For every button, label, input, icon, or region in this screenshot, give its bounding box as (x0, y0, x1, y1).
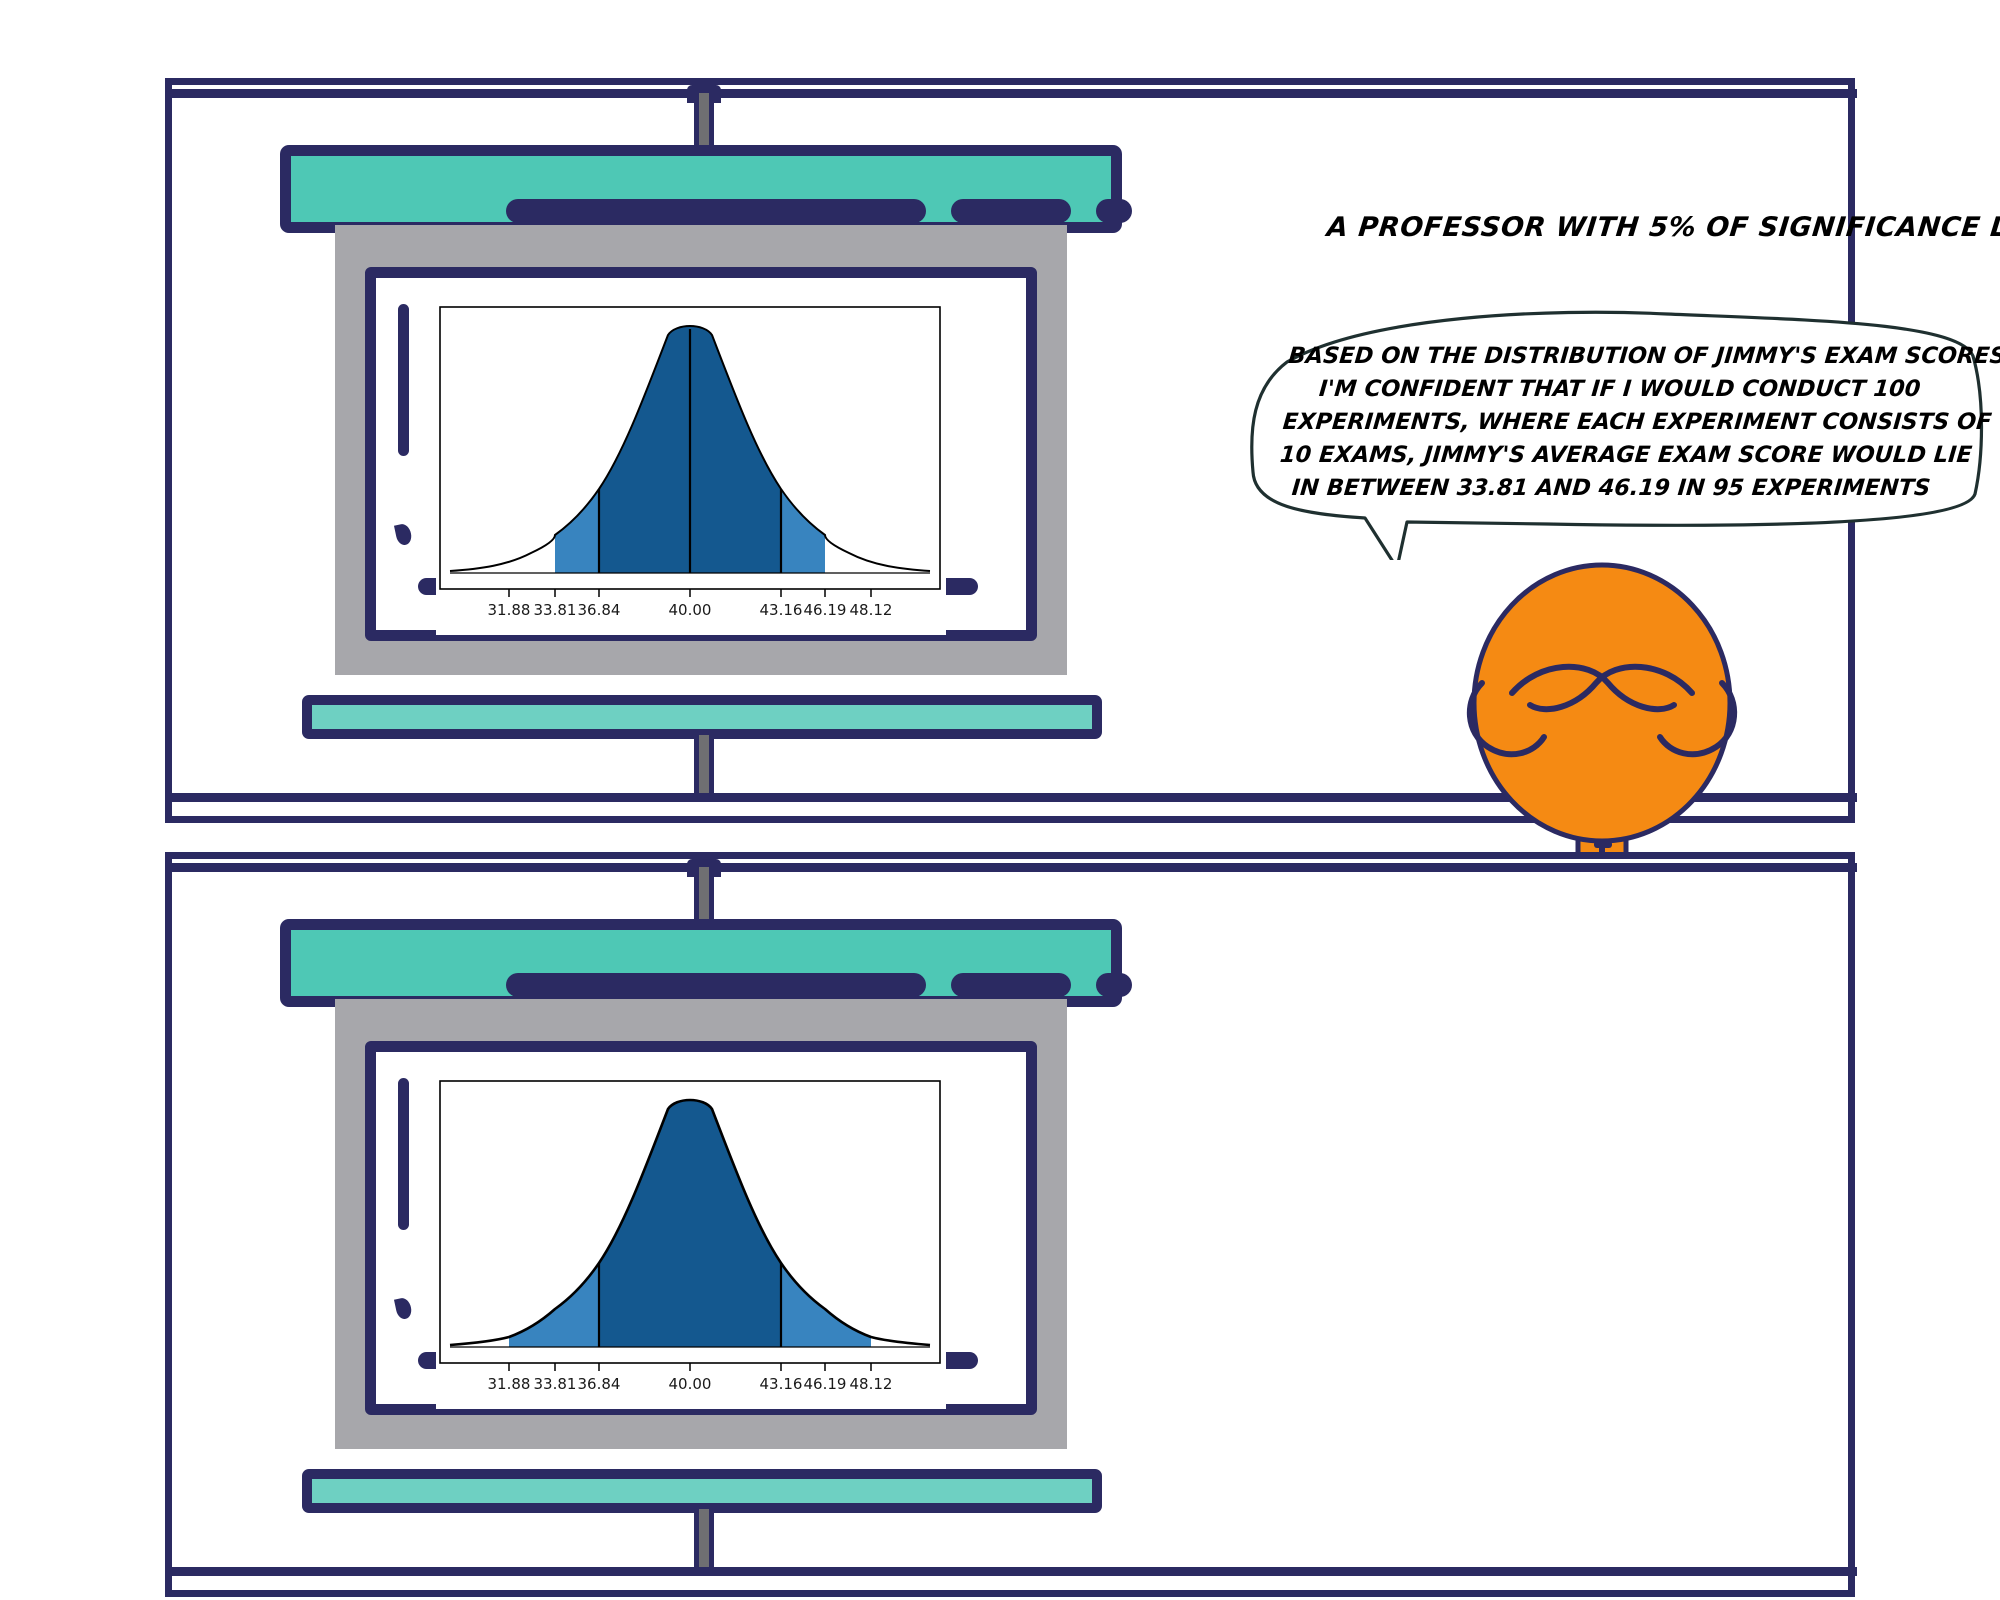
tick-label: 48.12 (850, 1375, 893, 1393)
projector-bottom-rod (694, 1509, 714, 1571)
tick-label: 33.81 (534, 601, 577, 619)
bubble-line: EXPERIMENTS, WHERE EACH EXPERIMENT CONSI… (1281, 406, 1952, 439)
whiteboard-2: 31.88 33.81 36.84 40.00 43.16 46.19 48.1… (365, 1041, 1037, 1415)
projector-rod (694, 93, 714, 151)
projector-assembly-2: 31.88 33.81 36.84 40.00 43.16 46.19 48.1… (247, 859, 1147, 1591)
tick-label: 43.16 (760, 601, 803, 619)
bubble-line: 10 EXAMS, JIMMY'S AVERAGE EXAM SCORE WOU… (1278, 439, 1949, 472)
projector-top-bar (280, 145, 1122, 233)
screen-gray-frame: 31.88 33.81 36.84 40.00 43.16 46.19 48.1… (335, 225, 1067, 675)
projector-top-bar (280, 919, 1122, 1007)
tick-label: 31.88 (488, 601, 531, 619)
chart-svg-1: 31.88 33.81 36.84 40.00 43.16 46.19 48.1… (436, 303, 946, 635)
floor-rail (165, 1567, 1857, 1576)
x-axis-tick-labels: 31.88 33.81 36.84 40.00 43.16 46.19 48.1… (488, 601, 893, 619)
bubble-text-1: BASED ON THE DISTRIBUTION OF JIMMY'S EXA… (1237, 310, 1996, 531)
screen-gray-frame: 31.88 33.81 36.84 40.00 43.16 46.19 48.1… (335, 999, 1067, 1449)
tick-label: 36.84 (578, 601, 621, 619)
x-axis-tick-labels: 31.88 33.81 36.84 40.00 43.16 46.19 48.1… (488, 1375, 893, 1393)
tick-label: 43.16 (760, 1375, 803, 1393)
dashed-marker-icon (398, 304, 409, 456)
projector-bottom-rod (694, 735, 714, 797)
decoration-bar-1 (506, 973, 926, 997)
tick-label: 48.12 (850, 601, 893, 619)
drop-icon (394, 523, 413, 547)
decoration-bar-3 (1096, 973, 1132, 997)
bubble-line: IN BETWEEN 33.81 AND 46.19 IN 95 EXPERIM… (1276, 472, 1947, 505)
x-axis-ticks (509, 1363, 871, 1371)
head (1474, 565, 1730, 841)
whiteboard-1: 31.88 33.81 36.84 40.00 43.16 46.19 48.1… (365, 267, 1037, 641)
decoration-bar-3 (1096, 199, 1132, 223)
tick-label: 40.00 (669, 1375, 712, 1393)
ceiling-rail (165, 89, 1857, 98)
tick-label: 36.84 (578, 1375, 621, 1393)
decoration-bar-2 (951, 973, 1071, 997)
chart-svg-2: 31.88 33.81 36.84 40.00 43.16 46.19 48.1… (436, 1077, 946, 1409)
projector-rod (694, 867, 714, 925)
tick-label: 31.88 (488, 1375, 531, 1393)
tick-label: 40.00 (669, 601, 712, 619)
decoration-bar-2 (951, 199, 1071, 223)
projector-assembly-1: 31.88 33.81 36.84 40.00 43.16 46.19 48.1… (247, 85, 1147, 817)
panel-title-1: A PROFESSOR WITH 5% OF SIGNIFICANCE LEVE… (1325, 212, 2000, 243)
ceiling-rail (165, 863, 1857, 872)
comic-panel-2: 31.88 33.81 36.84 40.00 43.16 46.19 48.1… (165, 852, 1855, 1597)
comic-panel-1: 31.88 33.81 36.84 40.00 43.16 46.19 48.1… (165, 78, 1855, 823)
drop-icon (394, 1297, 413, 1321)
distribution-chart-1: 31.88 33.81 36.84 40.00 43.16 46.19 48.1… (436, 303, 946, 635)
comic-strip: 31.88 33.81 36.84 40.00 43.16 46.19 48.1… (0, 0, 2000, 1600)
tick-label: 33.81 (534, 1375, 577, 1393)
bubble-line: BASED ON THE DISTRIBUTION OF JIMMY'S EXA… (1287, 340, 1958, 373)
projector-bottom-bar (302, 1469, 1102, 1513)
decoration-bar-1 (506, 199, 926, 223)
tick-label: 46.19 (804, 1375, 847, 1393)
professor-svg-1 (1452, 555, 1752, 895)
tick-label: 46.19 (804, 601, 847, 619)
bubble-line: I'M CONFIDENT THAT IF I WOULD CONDUCT 10… (1284, 373, 1955, 406)
x-axis-ticks (509, 589, 871, 597)
professor-character-1 (1452, 555, 1752, 895)
projector-bottom-bar (302, 695, 1102, 739)
speech-bubble-1: BASED ON THE DISTRIBUTION OF JIMMY'S EXA… (1247, 310, 1987, 531)
distribution-chart-2: 31.88 33.81 36.84 40.00 43.16 46.19 48.1… (436, 1077, 946, 1409)
dashed-marker-icon (398, 1078, 409, 1230)
